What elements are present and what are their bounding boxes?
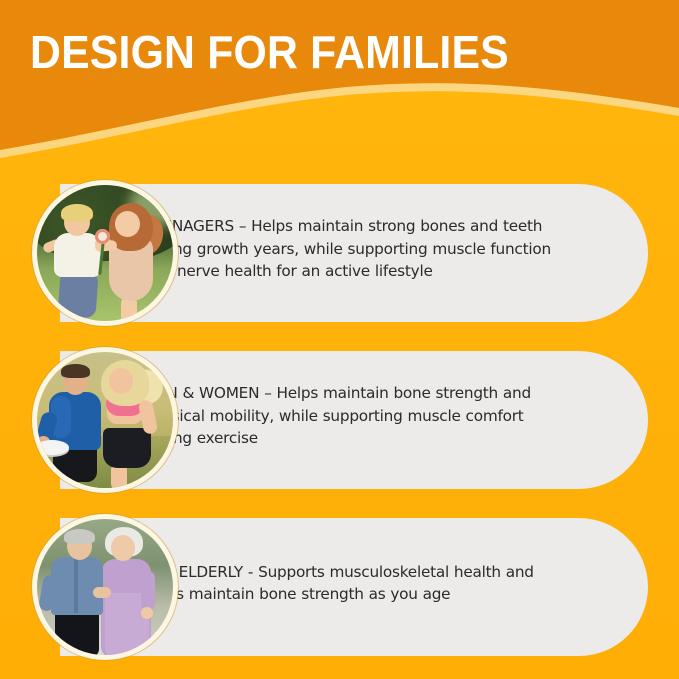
poster-root: DESIGN FOR FAMILIES TEENAGERS – Helps ma… xyxy=(0,0,679,679)
illustration-couple-jogging xyxy=(37,352,173,488)
illustration-elderly-couple-walking xyxy=(37,519,173,655)
photo-teenagers xyxy=(32,180,178,326)
feature-text-teenagers: TEENAGERS – Helps maintain strong bones … xyxy=(144,215,574,283)
feature-copy-wrap: MEN & WOMEN – Helps maintain bone streng… xyxy=(144,347,574,485)
feature-copy-wrap: TEENAGERS – Helps maintain strong bones … xyxy=(144,180,574,318)
feature-text-elderly: THE ELDERLY - Supports musculoskeletal h… xyxy=(144,561,574,606)
photo-men-women xyxy=(32,347,178,493)
illustration-children-running xyxy=(37,185,173,321)
photo-elderly xyxy=(32,514,178,660)
feature-text-men-women: MEN & WOMEN – Helps maintain bone streng… xyxy=(144,382,574,450)
page-title: DESIGN FOR FAMILIES xyxy=(30,24,588,80)
feature-copy-wrap: THE ELDERLY - Supports musculoskeletal h… xyxy=(144,514,574,652)
